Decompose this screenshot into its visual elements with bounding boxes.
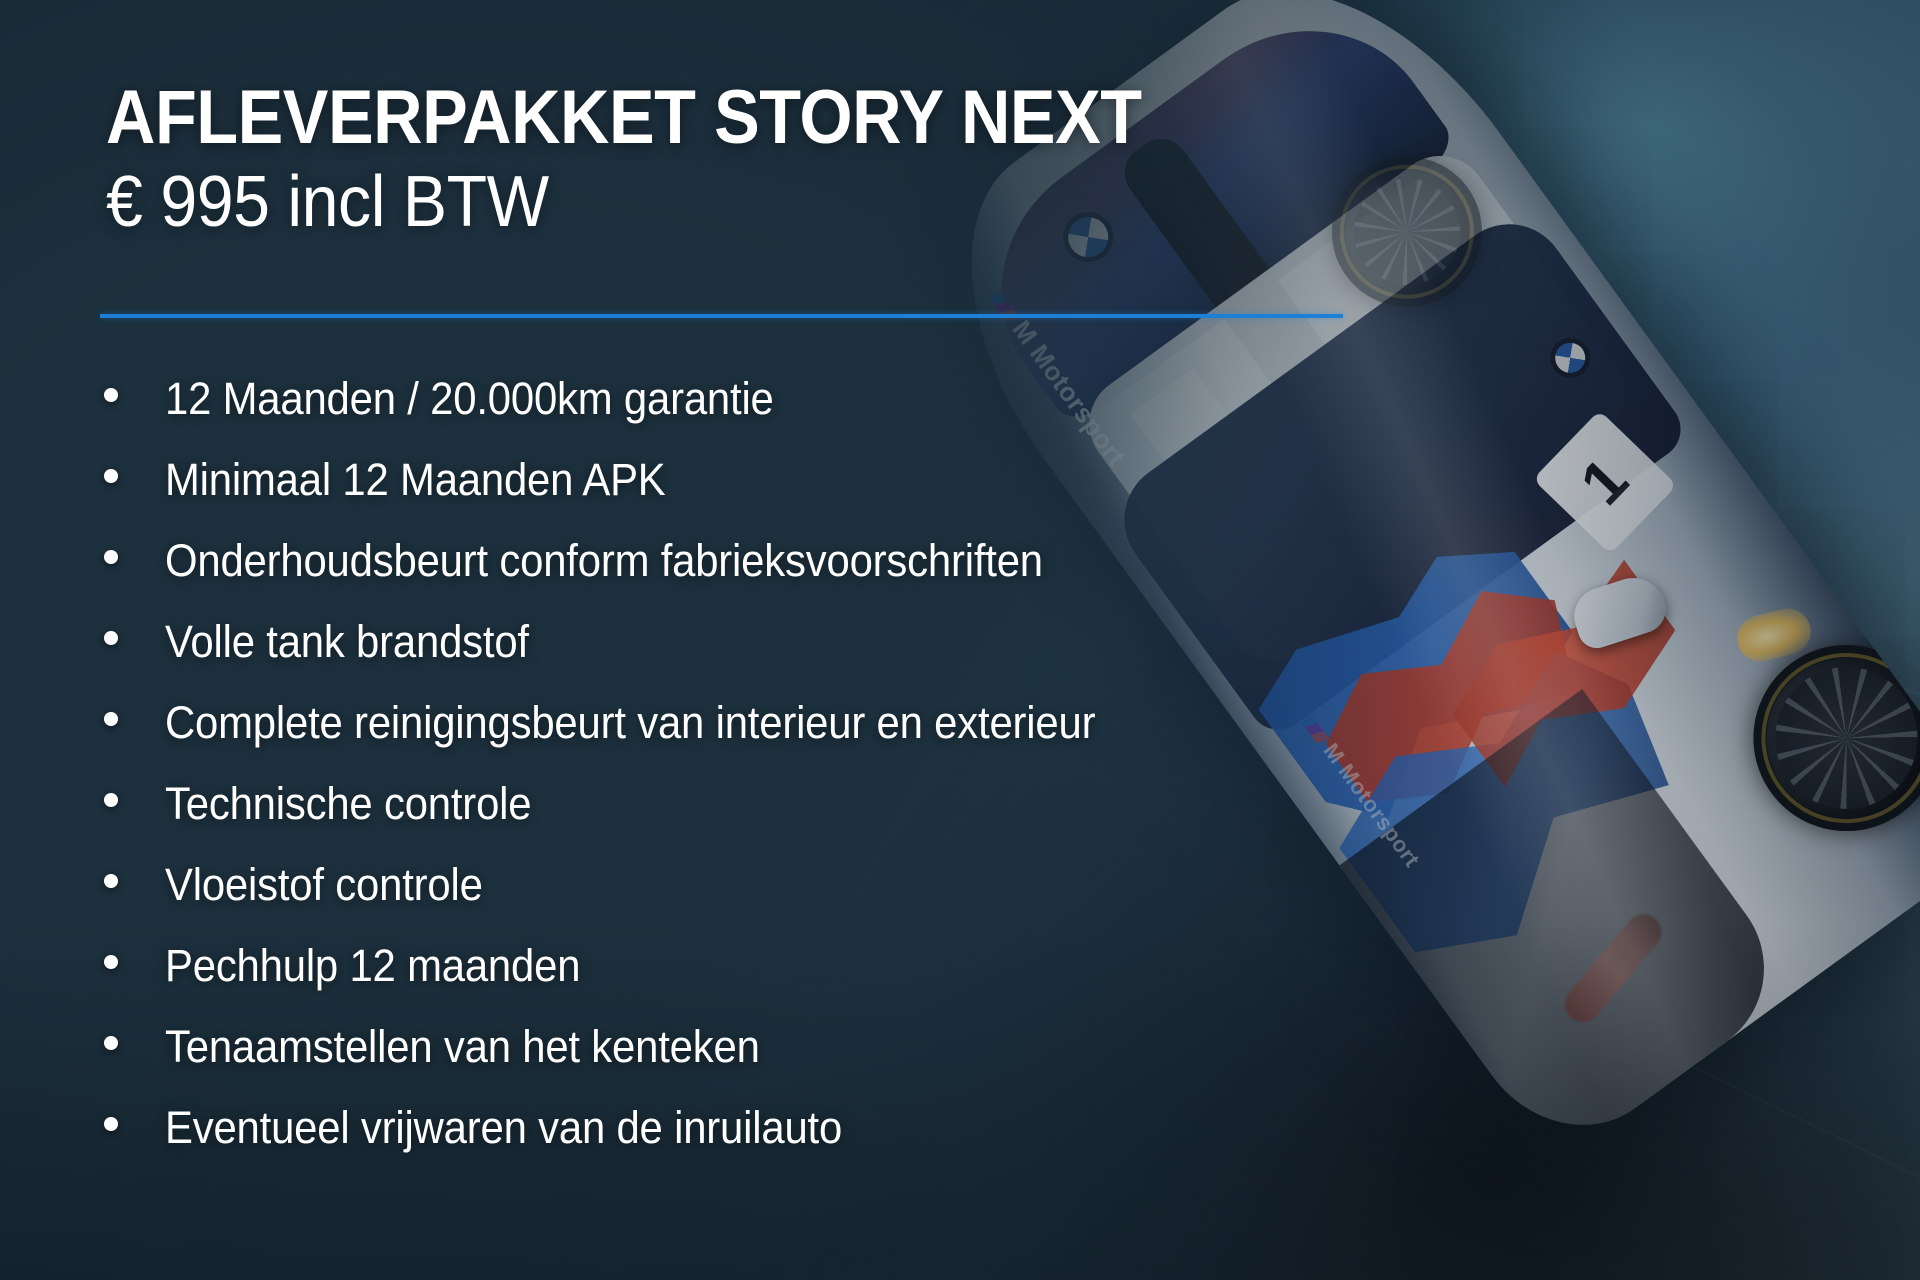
- poster-canvas: 1 M Motorsport M Motorsport AFLEVERPAKKE…: [0, 0, 1920, 1280]
- feature-item: Vloeistof controle: [100, 844, 1600, 925]
- feature-item: Onderhoudsbeurt conform fabrieksvoorschr…: [100, 520, 1600, 601]
- bullet-icon: [104, 712, 118, 726]
- bullet-icon: [104, 1036, 118, 1050]
- feature-item: Tenaamstellen van het kenteken: [100, 1006, 1600, 1087]
- bullet-icon: [104, 874, 118, 888]
- feature-label: Pechhulp 12 maanden: [165, 925, 580, 1006]
- feature-item: Pechhulp 12 maanden: [100, 925, 1600, 1006]
- feature-item: Technische controle: [100, 763, 1600, 844]
- bullet-icon: [104, 793, 118, 807]
- feature-item: Volle tank brandstof: [100, 601, 1600, 682]
- feature-list: 12 Maanden / 20.000km garantieMinimaal 1…: [100, 358, 1600, 1168]
- feature-label: Vloeistof controle: [165, 844, 483, 925]
- feature-label: Eventueel vrijwaren van de inruilauto: [165, 1087, 842, 1168]
- feature-item: 12 Maanden / 20.000km garantie: [100, 358, 1600, 439]
- bullet-icon: [104, 1117, 118, 1131]
- bullet-icon: [104, 955, 118, 969]
- divider: [100, 314, 1343, 318]
- poster-content: AFLEVERPAKKET STORY NEXT € 995 incl BTW …: [0, 0, 1920, 1280]
- feature-label: Volle tank brandstof: [165, 601, 529, 682]
- feature-label: Onderhoudsbeurt conform fabrieksvoorschr…: [165, 520, 1043, 601]
- feature-label: Minimaal 12 Maanden APK: [165, 439, 666, 520]
- bullet-icon: [104, 469, 118, 483]
- feature-label: Technische controle: [165, 763, 531, 844]
- feature-label: Complete reinigingsbeurt van interieur e…: [165, 682, 1095, 763]
- feature-label: Tenaamstellen van het kenteken: [165, 1006, 760, 1087]
- bullet-icon: [104, 631, 118, 645]
- bullet-icon: [104, 388, 118, 402]
- feature-item: Eventueel vrijwaren van de inruilauto: [100, 1087, 1600, 1168]
- page-title: AFLEVERPAKKET STORY NEXT: [106, 80, 1142, 156]
- price-subtitle: € 995 incl BTW: [106, 166, 549, 238]
- feature-label: 12 Maanden / 20.000km garantie: [165, 358, 774, 439]
- feature-item: Complete reinigingsbeurt van interieur e…: [100, 682, 1600, 763]
- bullet-icon: [104, 550, 118, 564]
- feature-item: Minimaal 12 Maanden APK: [100, 439, 1600, 520]
